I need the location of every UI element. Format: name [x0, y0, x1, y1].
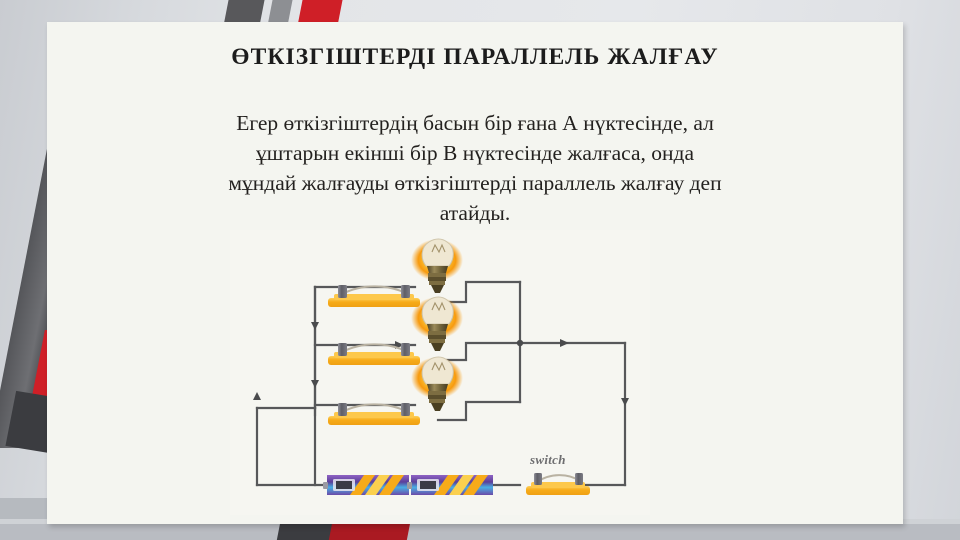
slide-canvas: ӨТКІЗГІШТЕРДІ ПАРАЛЛЕЛЬ ЖАЛҒАУ Егер өткі…	[0, 0, 960, 540]
battery-cell-2	[407, 475, 493, 495]
switch-label: switch	[530, 452, 566, 468]
body-line-2: ұштарын екінші бір В нүктесінде жалғаса,…	[105, 138, 845, 168]
lamp-bulb-1	[411, 239, 463, 293]
body-line-1: Егер өткізгіштердің басын бір ғана А нүк…	[105, 108, 845, 138]
slide-title: ӨТКІЗГІШТЕРДІ ПАРАЛЛЕЛЬ ЖАЛҒАУ	[47, 44, 903, 71]
conductor-resistor-3	[328, 403, 420, 425]
conductor-resistor-2	[328, 343, 420, 365]
body-line-4: атайды.	[105, 198, 845, 228]
deco-bottom-band	[0, 524, 960, 540]
circuit-diagram-svg	[230, 230, 650, 515]
conductor-resistor-1	[328, 285, 420, 307]
circuit-diagram-figure: switch	[230, 230, 650, 515]
body-line-3: мұндай жалғауды өткізгіштерді параллель …	[105, 168, 845, 198]
battery-cell-1	[323, 475, 409, 495]
deco-ribbon-bottom-red-two	[328, 524, 410, 540]
deco-ribbon-bottom-dark-two	[276, 524, 336, 540]
lamp-bulb-3	[411, 357, 463, 411]
slide-content-card: ӨТКІЗГІШТЕРДІ ПАРАЛЛЕЛЬ ЖАЛҒАУ Егер өткі…	[47, 22, 903, 524]
switch-component	[526, 473, 590, 495]
slide-body-text: Егер өткізгіштердің басын бір ғана А нүк…	[105, 108, 845, 228]
lamp-bulb-2	[411, 297, 463, 351]
